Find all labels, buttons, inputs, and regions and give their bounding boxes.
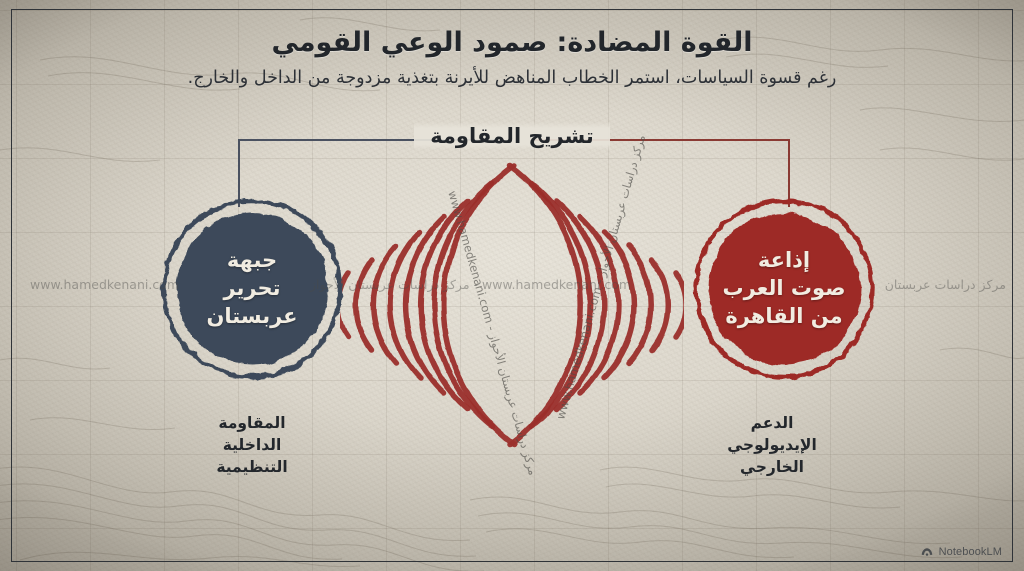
red-stamp-shape <box>686 191 882 387</box>
caption-right-line-3: الخارجي <box>662 456 882 478</box>
section-label: تشريح المقاومة <box>0 124 1024 148</box>
navy-stamp-shape <box>154 191 350 387</box>
caption-right: الدعم الإيديولوجي الخارجي <box>662 412 882 478</box>
notebooklm-badge: NotebookLM <box>920 545 1002 559</box>
caption-left: المقاومة الداخلية التنظيمية <box>142 412 362 478</box>
caption-right-line-1: الدعم <box>662 412 882 434</box>
watermark-diagonal-right: مركز دراسات عربستان الأحواز - www.hamedk… <box>553 133 648 421</box>
wave-group-right <box>510 166 684 444</box>
watermark-diagonal-left: مركز دراسات عربستان الأحواز - www.hamedk… <box>445 189 540 477</box>
node-right-voice-of-arabs[interactable]: إذاعة صوت العرب من القاهرة <box>686 191 882 387</box>
sound-wave-arcs <box>340 160 684 450</box>
caption-right-line-2: الإيديولوجي <box>662 434 882 456</box>
section-label-text: تشريح المقاومة <box>414 122 610 150</box>
watermark-right: مركز دراسات عربستان <box>885 277 1006 292</box>
wave-group-left <box>340 166 514 444</box>
notebooklm-icon <box>920 545 934 559</box>
header: القوة المضادة: صمود الوعي القومي رغم قسو… <box>0 26 1024 90</box>
infographic-canvas: القوة المضادة: صمود الوعي القومي رغم قسو… <box>0 0 1024 571</box>
node-left-liberation-front[interactable]: جبهة تحرير عربستان <box>154 191 350 387</box>
caption-left-line-1: المقاومة <box>142 412 362 434</box>
notebooklm-label: NotebookLM <box>939 546 1002 558</box>
watermark-center: www.hamedkenani.com - مركز دراسات عربستا… <box>310 277 631 292</box>
page-title: القوة المضادة: صمود الوعي القومي <box>60 26 964 60</box>
page-subtitle: رغم قسوة السياسات، استمر الخطاب المناهض … <box>60 67 964 90</box>
caption-left-line-3: التنظيمية <box>142 456 362 478</box>
caption-left-line-2: الداخلية <box>142 434 362 456</box>
